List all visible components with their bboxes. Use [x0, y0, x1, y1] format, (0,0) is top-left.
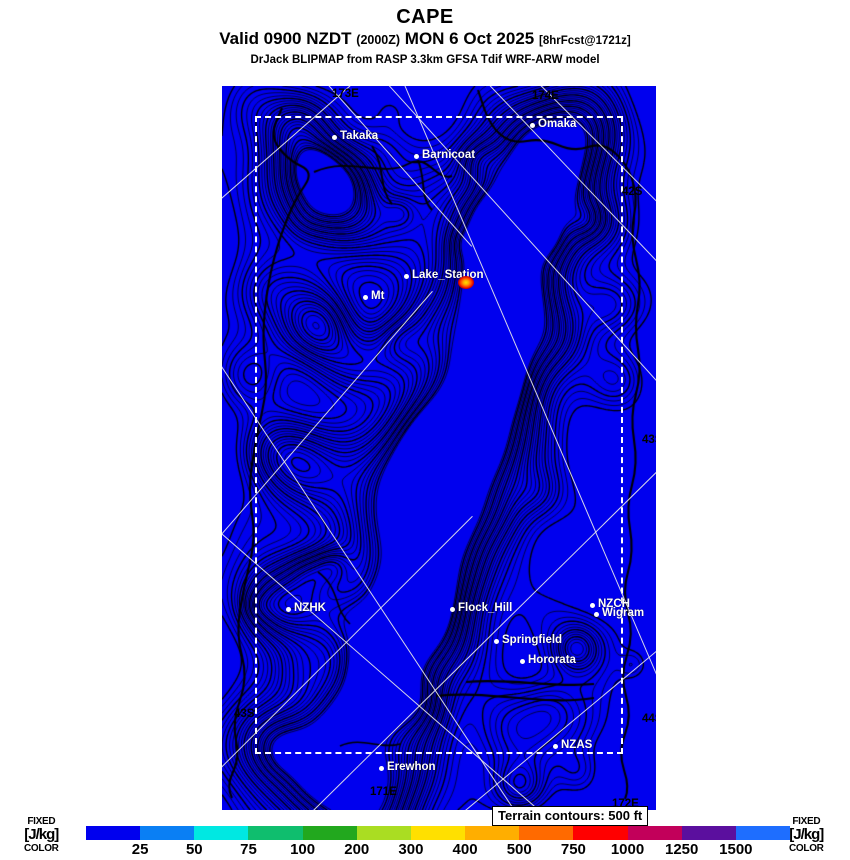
colorbar-band-12 — [736, 826, 790, 840]
colorbar-tick-75: 75 — [240, 841, 257, 858]
colorbar-band-6 — [411, 826, 465, 840]
colorbar-color-label-left: COLOR — [24, 843, 59, 854]
colorbar-band-8 — [519, 826, 573, 840]
colorbar-tick-25: 25 — [132, 841, 149, 858]
colorbar-band-10 — [628, 826, 682, 840]
valid-time-utc: (2000Z) — [356, 33, 400, 47]
forecast-tag: [8hrFcst@1721z] — [539, 35, 631, 47]
cape-maximum-hotspot — [458, 276, 474, 289]
valid-time: Valid 0900 NZDT — [219, 29, 351, 48]
colorbar-band-11 — [682, 826, 736, 840]
colorbar-gradient[interactable] — [86, 826, 790, 840]
colorbar-tick-200: 200 — [344, 841, 369, 858]
colorbar-tick-300: 300 — [398, 841, 423, 858]
colorbar-tick-100: 100 — [290, 841, 315, 858]
terrain-contour-note: Terrain contours: 500 ft — [492, 806, 648, 826]
colorbar-band-0 — [86, 826, 140, 840]
colorbar-tick-1000: 1000 — [611, 841, 644, 858]
cape-map[interactable]: 173E174E41S42S42S43S43S44S171E172E Takak… — [222, 86, 656, 810]
terrain-contour-layer — [222, 86, 656, 810]
colorbar-band-4 — [303, 826, 357, 840]
colorbar-tick-500: 500 — [507, 841, 532, 858]
colorbar-tick-50: 50 — [186, 841, 203, 858]
colorbar-tick-400: 400 — [453, 841, 478, 858]
colorbar-band-3 — [248, 826, 302, 840]
colorbar-band-5 — [357, 826, 411, 840]
header: CAPE Valid 0900 NZDT (2000Z) MON 6 Oct 2… — [0, 0, 850, 67]
colorbar-band-1 — [140, 826, 194, 840]
colorbar-unit-right: [J/kg] — [789, 827, 824, 843]
colorbar-tick-1250: 1250 — [665, 841, 698, 858]
colorbar-tick-1500: 1500 — [719, 841, 752, 858]
colorbar-left-legend: FIXED [J/kg] COLOR — [24, 816, 59, 854]
colorbar-band-7 — [465, 826, 519, 840]
colorbar-band-9 — [573, 826, 627, 840]
page-title: CAPE — [0, 6, 850, 28]
valid-date: MON 6 Oct 2025 — [405, 29, 534, 48]
colorbar-right-legend: FIXED [J/kg] COLOR — [789, 816, 824, 854]
valid-time-line: Valid 0900 NZDT (2000Z) MON 6 Oct 2025 [… — [0, 29, 850, 51]
colorbar-tick-750: 750 — [561, 841, 586, 858]
model-line: DrJack BLIPMAP from RASP 3.3km GFSA Tdif… — [0, 53, 850, 67]
colorbar-color-label-right: COLOR — [789, 843, 824, 854]
colorbar-band-2 — [194, 826, 248, 840]
colorbar-tick-labels: 255075100200300400500750100012501500 — [86, 841, 790, 859]
colorbar-unit-left: [J/kg] — [24, 827, 59, 843]
